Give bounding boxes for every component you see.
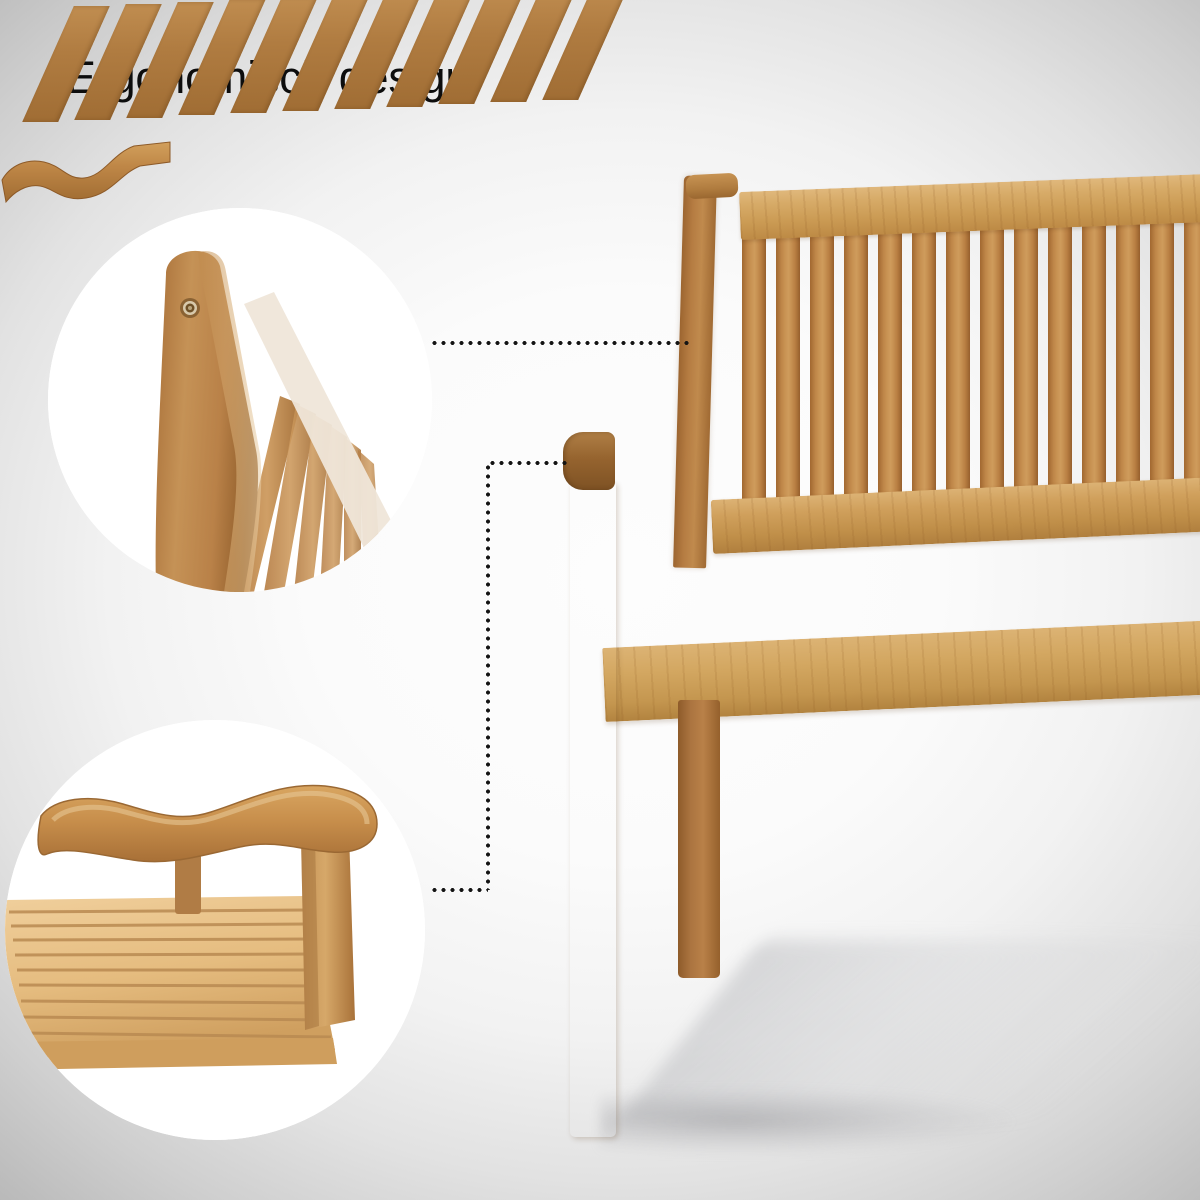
backrest-slat <box>810 231 834 510</box>
callout-backrest-top-image <box>48 208 432 592</box>
callout-armrest-image <box>5 720 425 1140</box>
backrest-slat <box>742 234 766 512</box>
backrest-slat <box>1150 218 1174 501</box>
backrest-slat <box>878 229 902 509</box>
product-feature-image: Ergonomisch design <box>0 0 1200 1200</box>
callout-armrest <box>5 720 425 1140</box>
connector-top-dotted-line <box>430 341 692 345</box>
backrest-slat <box>980 225 1004 506</box>
backrest-slat <box>1184 216 1200 499</box>
connector-bottom-segment-lower <box>430 888 488 892</box>
backrest-slat <box>1014 223 1038 504</box>
armrest-front-cap <box>563 432 615 490</box>
seat-slats <box>0 0 600 140</box>
backrest-slat <box>912 227 936 507</box>
backrest-slat <box>1048 222 1072 504</box>
connector-bottom-segment-vertical <box>486 463 490 890</box>
front-leg <box>570 482 616 1137</box>
bench-floor-shadow <box>600 1080 1200 1170</box>
backrest-slat <box>1116 219 1140 501</box>
armrest <box>0 140 172 216</box>
callout-backrest-top <box>48 208 432 592</box>
backrest-slat <box>776 233 800 511</box>
connector-bottom-segment-upper <box>488 461 568 465</box>
back-post-cap <box>685 173 738 200</box>
rear-leg <box>678 700 720 978</box>
backrest-slat <box>946 226 970 506</box>
backrest-slat <box>1082 221 1106 503</box>
backrest-slat <box>844 230 868 509</box>
